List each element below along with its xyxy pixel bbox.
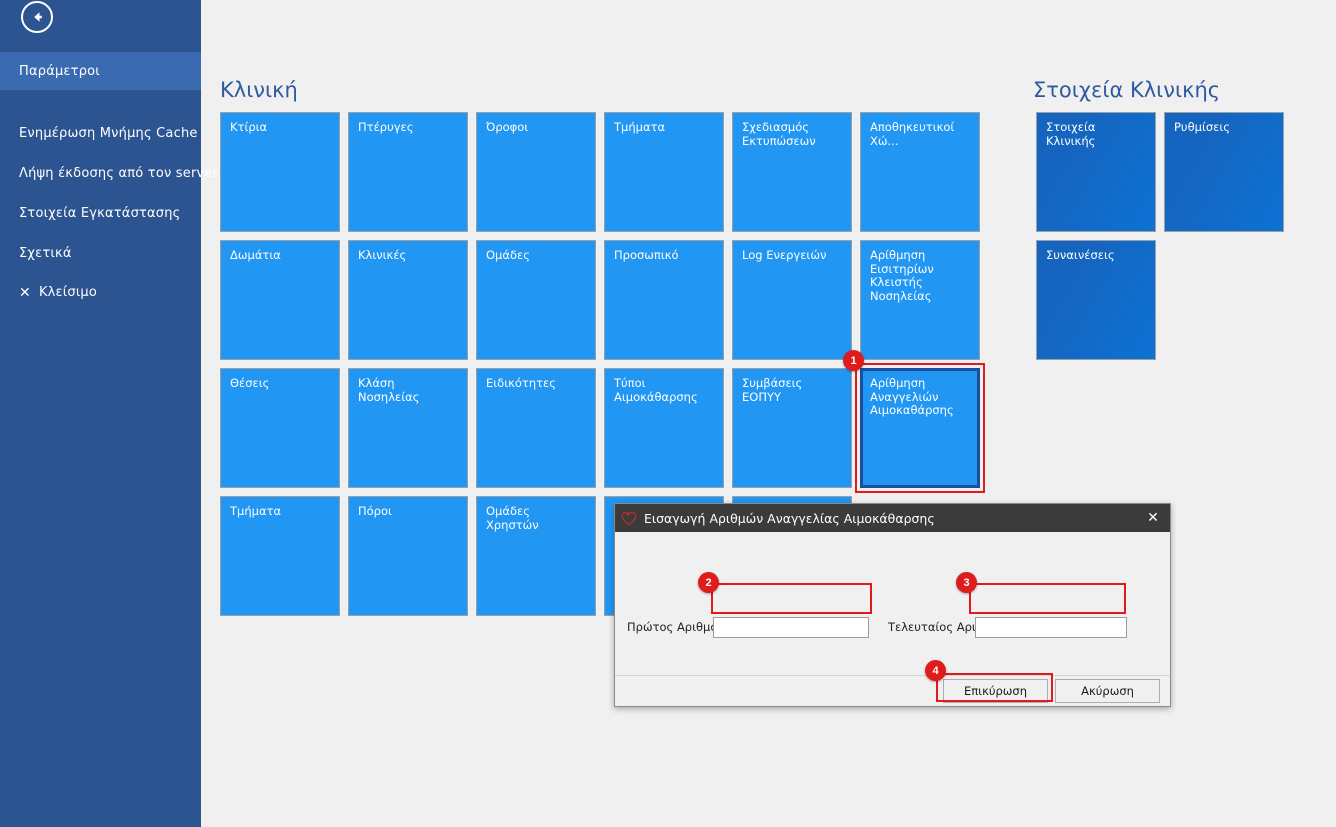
tile-tmimata-1[interactable]: Τμήματα — [604, 112, 724, 232]
first-number-input[interactable] — [713, 617, 869, 638]
tile-poroi[interactable]: Πόροι — [348, 496, 468, 616]
tile-orofoi[interactable]: Όροφοι — [476, 112, 596, 232]
tile-arithmisi-eisitirion[interactable]: Αρίθμηση Εισιτηρίων Κλειστής Νοσηλείας — [860, 240, 980, 360]
tile-typoi-aimokatharsis[interactable]: Τύποι Αιμοκάθαρσης — [604, 368, 724, 488]
tile-stoicheia-klinikis[interactable]: Στοιχεία Κλινικής — [1036, 112, 1156, 232]
tile-domatia[interactable]: Δωμάτια — [220, 240, 340, 360]
dialog-insert-dialysis-numbers: Εισαγωγή Αριθμών Αναγγελίας Αιμοκάθαρσης… — [614, 503, 1171, 707]
tile-eidikotites[interactable]: Ειδικότητες — [476, 368, 596, 488]
sidebar-item-installation-info[interactable]: Στοιχεία Εγκατάστασης — [19, 206, 181, 221]
confirm-button[interactable]: Επικύρωση — [943, 679, 1048, 703]
group-title-stoicheia-klinikis: Στοιχεία Κλινικής — [1033, 78, 1220, 102]
tile-arithmisi-anagelion-aimokatharsis[interactable]: Αρίθμηση Αναγγελιών Αιμοκαθάρσης — [860, 368, 980, 488]
cancel-button[interactable]: Ακύρωση — [1055, 679, 1160, 703]
dialog-body: Πρώτος Αριθμός Τελευταίος Αριθμός — [615, 532, 1170, 677]
tile-klinikes[interactable]: Κλινικές — [348, 240, 468, 360]
last-number-input[interactable] — [975, 617, 1127, 638]
tile-log-energeion[interactable]: Log Ενεργειών — [732, 240, 852, 360]
sidebar-item-close-label: Κλείσιμο — [39, 285, 97, 300]
tile-prosopiko[interactable]: Προσωπικό — [604, 240, 724, 360]
tile-rythmiseis[interactable]: Ρυθμίσεις — [1164, 112, 1284, 232]
group-title-kliniki: Κλινική — [220, 78, 298, 102]
tile-apothikeutikoi-choroi[interactable]: Αποθηκευτικοί Χώ... — [860, 112, 980, 232]
sidebar-item-close[interactable]: ✕ Κλείσιμο — [19, 285, 97, 300]
back-button[interactable] — [21, 1, 53, 33]
sidebar-item-server-version[interactable]: Λήψη έκδοσης από τον server — [19, 166, 218, 181]
dialog-titlebar: Εισαγωγή Αριθμών Αναγγελίας Αιμοκάθαρσης… — [615, 504, 1170, 532]
close-x-icon: ✕ — [19, 286, 31, 300]
dialog-title: Εισαγωγή Αριθμών Αναγγελίας Αιμοκάθαρσης — [644, 511, 1142, 526]
heart-logo-icon — [620, 509, 638, 527]
tile-klasi-nosileias[interactable]: Κλάση Νοσηλείας — [348, 368, 468, 488]
tile-omades[interactable]: Ομάδες — [476, 240, 596, 360]
sidebar-item-parametroi[interactable]: Παράμετροι — [19, 64, 100, 79]
tile-symvaseis-eopyy[interactable]: Συμβάσεις ΕΟΠΥΥ — [732, 368, 852, 488]
sidebar-item-about[interactable]: Σχετικά — [19, 246, 72, 261]
tile-schediasmos-ektyposeon[interactable]: Σχεδιασμός Εκτυπώσεων — [732, 112, 852, 232]
tile-tmimata-2[interactable]: Τμήματα — [220, 496, 340, 616]
first-number-label: Πρώτος Αριθμός — [627, 620, 724, 634]
dialog-footer: Επικύρωση Ακύρωση — [615, 675, 1170, 706]
tile-theseis[interactable]: Θέσεις — [220, 368, 340, 488]
tile-synaineseis[interactable]: Συναινέσεις — [1036, 240, 1156, 360]
close-icon[interactable]: ✕ — [1142, 507, 1164, 529]
tile-omades-christon[interactable]: Ομάδες Χρηστών — [476, 496, 596, 616]
tile-pteryges[interactable]: Πτέρυγες — [348, 112, 468, 232]
sidebar-item-cache-update[interactable]: Ενημέρωση Μνήμης Cache — [19, 126, 198, 141]
back-arrow-icon — [28, 8, 46, 26]
tile-ktiria[interactable]: Κτίρια — [220, 112, 340, 232]
sidebar: Παράμετροι Ενημέρωση Μνήμης Cache Λήψη έ… — [0, 0, 201, 827]
